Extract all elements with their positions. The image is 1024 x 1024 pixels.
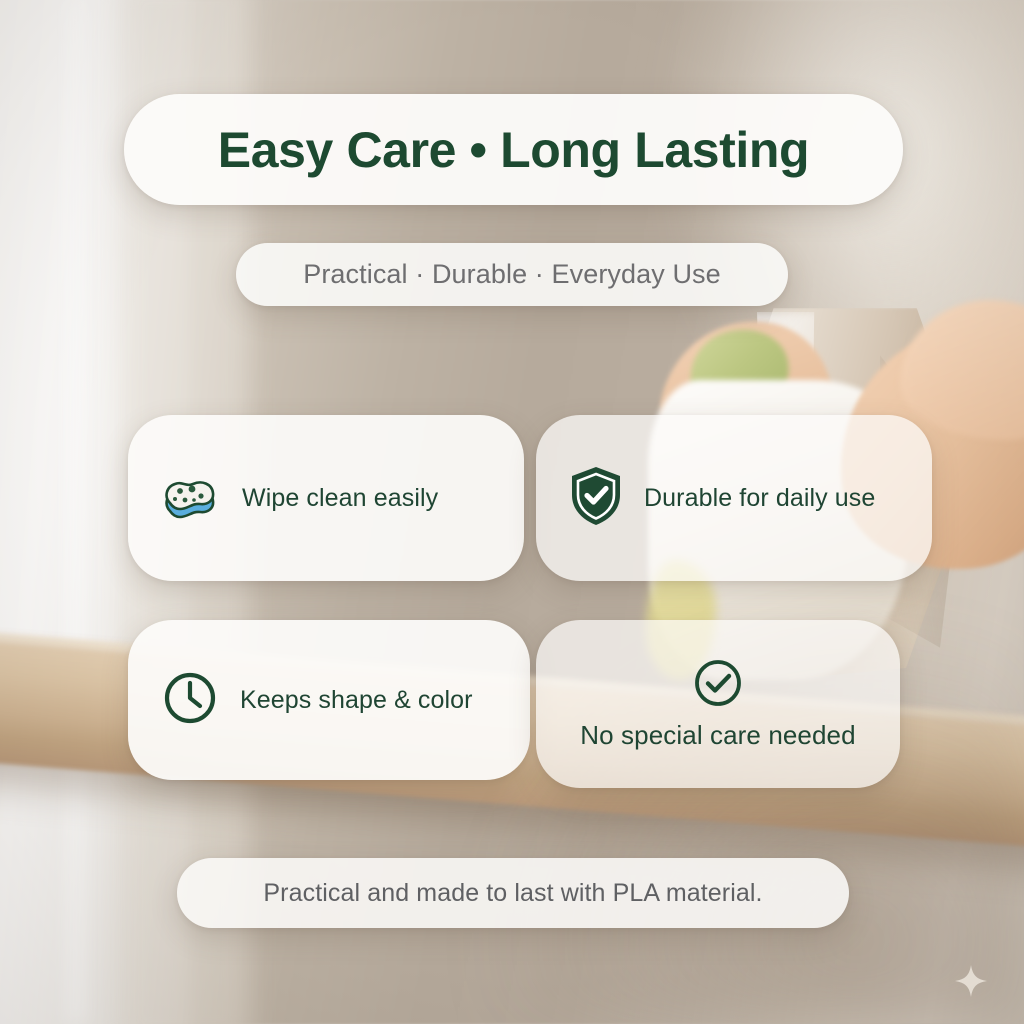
- sponge-icon: [160, 467, 220, 530]
- feature-label: No special care needed: [580, 720, 855, 751]
- feature-label: Keeps shape & color: [240, 686, 473, 715]
- feature-card-wipe-clean[interactable]: Wipe clean easily: [128, 415, 524, 581]
- page-subtitle: Practical · Durable · Everyday Use: [303, 259, 721, 290]
- footer-text: Practical and made to last with PLA mate…: [263, 879, 762, 908]
- shield-check-icon: [568, 465, 624, 532]
- page-title: Easy Care • Long Lasting: [218, 121, 809, 179]
- infographic-canvas: Easy Care • Long Lasting Practical · Dur…: [0, 0, 1024, 1024]
- feature-label: Durable for daily use: [644, 484, 875, 513]
- feature-card-no-special-care[interactable]: No special care needed: [536, 620, 900, 788]
- subtitle-pill: Practical · Durable · Everyday Use: [236, 243, 788, 306]
- feature-card-keeps-shape[interactable]: Keeps shape & color: [128, 620, 530, 780]
- clock-icon: [162, 670, 218, 731]
- feature-card-durable[interactable]: Durable for daily use: [536, 415, 932, 581]
- feature-label: Wipe clean easily: [242, 484, 438, 513]
- check-circle-icon: [692, 657, 744, 714]
- sparkle-icon: [954, 964, 988, 998]
- title-pill: Easy Care • Long Lasting: [124, 94, 903, 205]
- footer-pill: Practical and made to last with PLA mate…: [177, 858, 849, 928]
